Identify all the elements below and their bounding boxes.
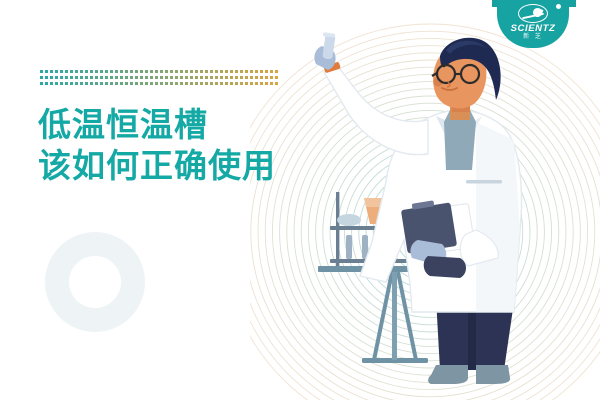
- grid-dot: [95, 82, 98, 85]
- grid-dot: [190, 70, 193, 73]
- grid-dot: [100, 82, 103, 85]
- grid-dot: [160, 70, 163, 73]
- grid-dot: [170, 76, 173, 79]
- grid-dot: [160, 76, 163, 79]
- grid-dot: [240, 82, 243, 85]
- grid-dot: [225, 70, 228, 73]
- grid-dot: [155, 82, 158, 85]
- grid-dot: [135, 70, 138, 73]
- grid-dot: [125, 70, 128, 73]
- grid-dot: [220, 76, 223, 79]
- grid-dot: [155, 76, 158, 79]
- grid-dot: [185, 76, 188, 79]
- grid-dot: [60, 82, 63, 85]
- banner-root: 低温恒温槽 该如何正确使用: [0, 0, 600, 400]
- grid-dot: [230, 82, 233, 85]
- grid-dot: [170, 70, 173, 73]
- grid-dot: [55, 70, 58, 73]
- grid-dot: [110, 76, 113, 79]
- grid-dot: [275, 76, 278, 79]
- grid-dot: [220, 82, 223, 85]
- grid-dot: [125, 76, 128, 79]
- grid-dot: [220, 70, 223, 73]
- grid-dot: [40, 76, 43, 79]
- grid-dot: [215, 76, 218, 79]
- grid-dot: [80, 82, 83, 85]
- grid-dot: [115, 70, 118, 73]
- grid-dot: [270, 70, 273, 73]
- grid-dot: [275, 82, 278, 85]
- grid-dot: [65, 82, 68, 85]
- grid-dot: [65, 76, 68, 79]
- grid-dot: [255, 76, 258, 79]
- grid-dot: [85, 76, 88, 79]
- grid-dot: [175, 76, 178, 79]
- grid-dot: [70, 76, 73, 79]
- grid-dot: [175, 70, 178, 73]
- grid-dot: [210, 76, 213, 79]
- grid-dot: [250, 82, 253, 85]
- grid-dot: [195, 76, 198, 79]
- grid-dot: [195, 70, 198, 73]
- grid-dot: [50, 82, 53, 85]
- lab-coat: [324, 64, 521, 312]
- grid-dot: [250, 70, 253, 73]
- grid-dot: [210, 70, 213, 73]
- grid-dot: [65, 70, 68, 73]
- grid-dot: [90, 82, 93, 85]
- grid-dot: [235, 76, 238, 79]
- grid-dot: [140, 76, 143, 79]
- grid-dot: [260, 82, 263, 85]
- grid-dot: [40, 70, 43, 73]
- bottom-watermark: · · · · · · · · · · · · · · · · · · ·: [300, 386, 580, 392]
- grid-dot: [145, 76, 148, 79]
- dot-grid-decor: [40, 70, 280, 89]
- grid-dot: [180, 76, 183, 79]
- grid-dot: [55, 76, 58, 79]
- grid-dot: [130, 76, 133, 79]
- grid-dot: [85, 70, 88, 73]
- grid-dot: [165, 70, 168, 73]
- raised-hand-with-test-tube: [314, 32, 340, 73]
- donut-decor: [45, 232, 145, 332]
- grid-dot: [185, 70, 188, 73]
- grid-dot: [165, 82, 168, 85]
- grid-dot: [100, 76, 103, 79]
- grid-dot: [75, 82, 78, 85]
- grid-dot: [180, 82, 183, 85]
- scientist-illustration: [300, 30, 600, 400]
- grid-dot: [50, 70, 53, 73]
- grid-dot: [190, 82, 193, 85]
- grid-dot: [140, 70, 143, 73]
- grid-dot: [90, 70, 93, 73]
- grid-dot: [250, 76, 253, 79]
- grid-dot: [115, 76, 118, 79]
- grid-dot: [215, 70, 218, 73]
- grid-dot: [95, 70, 98, 73]
- grid-dot: [205, 76, 208, 79]
- grid-dot: [105, 70, 108, 73]
- grid-dot: [95, 76, 98, 79]
- grid-dot: [205, 82, 208, 85]
- grid-dot: [215, 82, 218, 85]
- grid-dot: [265, 76, 268, 79]
- grid-dot: [180, 70, 183, 73]
- grid-dot: [225, 82, 228, 85]
- grid-dot: [260, 76, 263, 79]
- grid-dot: [130, 70, 133, 73]
- grid-dot: [130, 82, 133, 85]
- scientz-swan-icon: [518, 4, 548, 23]
- grid-dot: [270, 82, 273, 85]
- grid-dot: [115, 82, 118, 85]
- grid-dot: [245, 70, 248, 73]
- grid-dot: [45, 70, 48, 73]
- brand-sub-wordmark: 新 芝: [523, 34, 543, 41]
- grid-dot: [145, 82, 148, 85]
- grid-dot: [75, 76, 78, 79]
- grid-dot: [275, 70, 278, 73]
- grid-dot: [255, 70, 258, 73]
- grid-dot: [60, 76, 63, 79]
- grid-dot: [155, 70, 158, 73]
- brand-wordmark: SCIENTZ: [511, 24, 556, 34]
- grid-dot: [120, 76, 123, 79]
- grid-dot: [75, 70, 78, 73]
- grid-dot: [80, 70, 83, 73]
- grid-dot: [270, 76, 273, 79]
- headline-block: 低温恒温槽 该如何正确使用: [38, 104, 338, 186]
- grid-dot: [150, 70, 153, 73]
- grid-dot: [235, 82, 238, 85]
- grid-dot: [265, 82, 268, 85]
- grid-dot: [100, 70, 103, 73]
- grid-dot: [80, 76, 83, 79]
- grid-dot: [135, 82, 138, 85]
- grid-dot: [145, 70, 148, 73]
- grid-dot: [230, 76, 233, 79]
- registered-mark-icon: [556, 4, 561, 9]
- grid-dot: [165, 76, 168, 79]
- grid-dot: [110, 70, 113, 73]
- grid-dot: [150, 76, 153, 79]
- grid-dot: [140, 82, 143, 85]
- grid-dot: [265, 70, 268, 73]
- grid-dot: [200, 82, 203, 85]
- grid-dot: [210, 82, 213, 85]
- grid-dot: [160, 82, 163, 85]
- grid-dot: [240, 70, 243, 73]
- grid-dot: [45, 82, 48, 85]
- head: [432, 38, 501, 112]
- grid-dot: [90, 76, 93, 79]
- grid-dot: [135, 76, 138, 79]
- grid-dot: [50, 76, 53, 79]
- grid-dot: [230, 70, 233, 73]
- grid-dot: [120, 82, 123, 85]
- grid-dot: [170, 82, 173, 85]
- grid-dot: [125, 82, 128, 85]
- grid-dot: [120, 70, 123, 73]
- grid-dot: [235, 70, 238, 73]
- grid-dot: [245, 82, 248, 85]
- grid-dot: [110, 82, 113, 85]
- grid-dot: [175, 82, 178, 85]
- grid-dot: [185, 82, 188, 85]
- grid-dot: [225, 76, 228, 79]
- headline-line-2: 该如何正确使用: [38, 145, 338, 186]
- grid-dot: [190, 76, 193, 79]
- headline-line-1: 低温恒温槽: [38, 104, 338, 145]
- grid-dot: [45, 76, 48, 79]
- grid-dot: [245, 76, 248, 79]
- grid-dot: [55, 82, 58, 85]
- grid-dot: [105, 82, 108, 85]
- grid-dot: [205, 70, 208, 73]
- grid-dot: [60, 70, 63, 73]
- grid-dot: [240, 76, 243, 79]
- grid-dot: [255, 82, 258, 85]
- grid-dot: [200, 70, 203, 73]
- grid-dot: [40, 82, 43, 85]
- grid-dot: [200, 76, 203, 79]
- grid-dot: [85, 82, 88, 85]
- grid-dot: [70, 70, 73, 73]
- grid-dot: [150, 82, 153, 85]
- grid-dot: [70, 82, 73, 85]
- grid-dot: [105, 76, 108, 79]
- inner-shirt: [444, 106, 476, 170]
- grid-dot: [195, 82, 198, 85]
- grid-dot: [260, 70, 263, 73]
